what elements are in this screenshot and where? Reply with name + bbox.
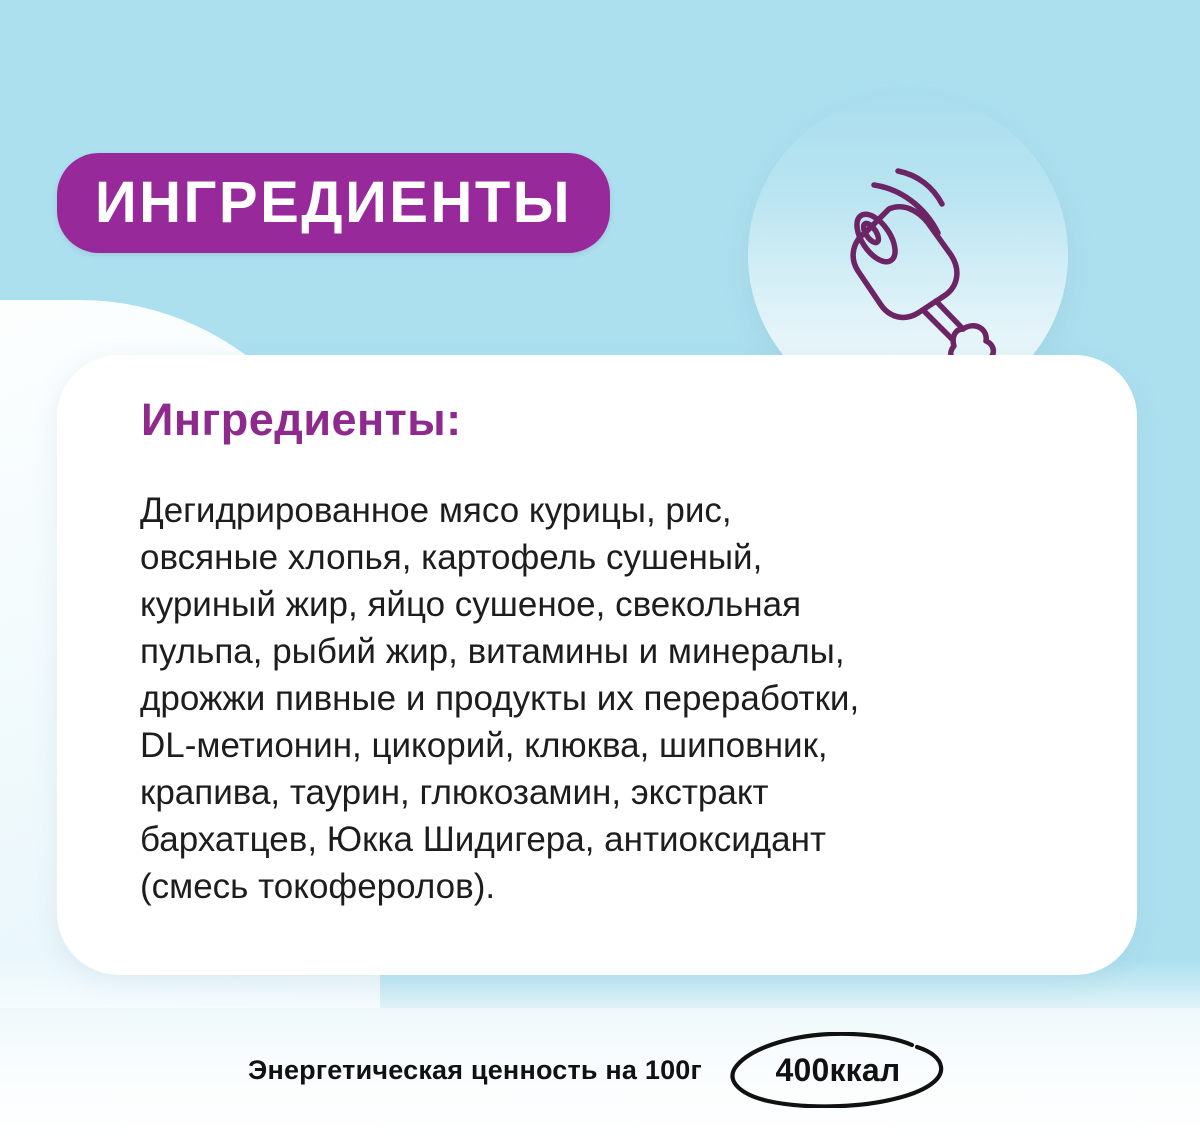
ingredients-line: DL-метионин, цикорий, клюква, шиповник, <box>140 722 1070 769</box>
ingredients-line: крапива, таурин, глюкозамин, экстракт <box>140 769 1070 816</box>
ingredients-line: (смесь токоферолов). <box>140 863 1070 910</box>
ingredients-line: овсяные хлопья, картофель сушеный, <box>140 534 1070 581</box>
poster-canvas: ИНГРЕДИЕНТЫ Ингредиенты: <box>0 0 1200 1136</box>
ingredients-line: дрожжи пивные и продукты их переработки, <box>140 675 1070 722</box>
title-badge-label: ИНГРЕДИЕНТЫ <box>95 174 572 232</box>
kcal-value: 400ккал <box>775 1052 900 1089</box>
ingredients-line: бархатцев, Юкка Шидигера, антиоксидант <box>140 816 1070 863</box>
energy-footer: Энергетическая ценность на 100г 400ккал <box>0 1035 1200 1105</box>
ingredients-line: пульпа, рыбий жир, витамины и минералы, <box>140 628 1070 675</box>
title-badge: ИНГРЕДИЕНТЫ <box>57 153 610 253</box>
ingredients-line: Дегидрированное мясо курицы, рис, <box>140 487 1070 534</box>
energy-value-label: Энергетическая ценность на 100г <box>248 1055 702 1086</box>
ingredients-card: Ингредиенты: Дегидрированное мясо курицы… <box>57 355 1137 975</box>
kcal-badge: 400ккал <box>724 1032 952 1108</box>
ingredients-text: Дегидрированное мясо курицы, рис, овсяны… <box>140 487 1070 910</box>
ingredients-line: куриный жир, яйцо сушеное, свекольная <box>140 581 1070 628</box>
card-heading: Ингредиенты: <box>141 397 462 442</box>
